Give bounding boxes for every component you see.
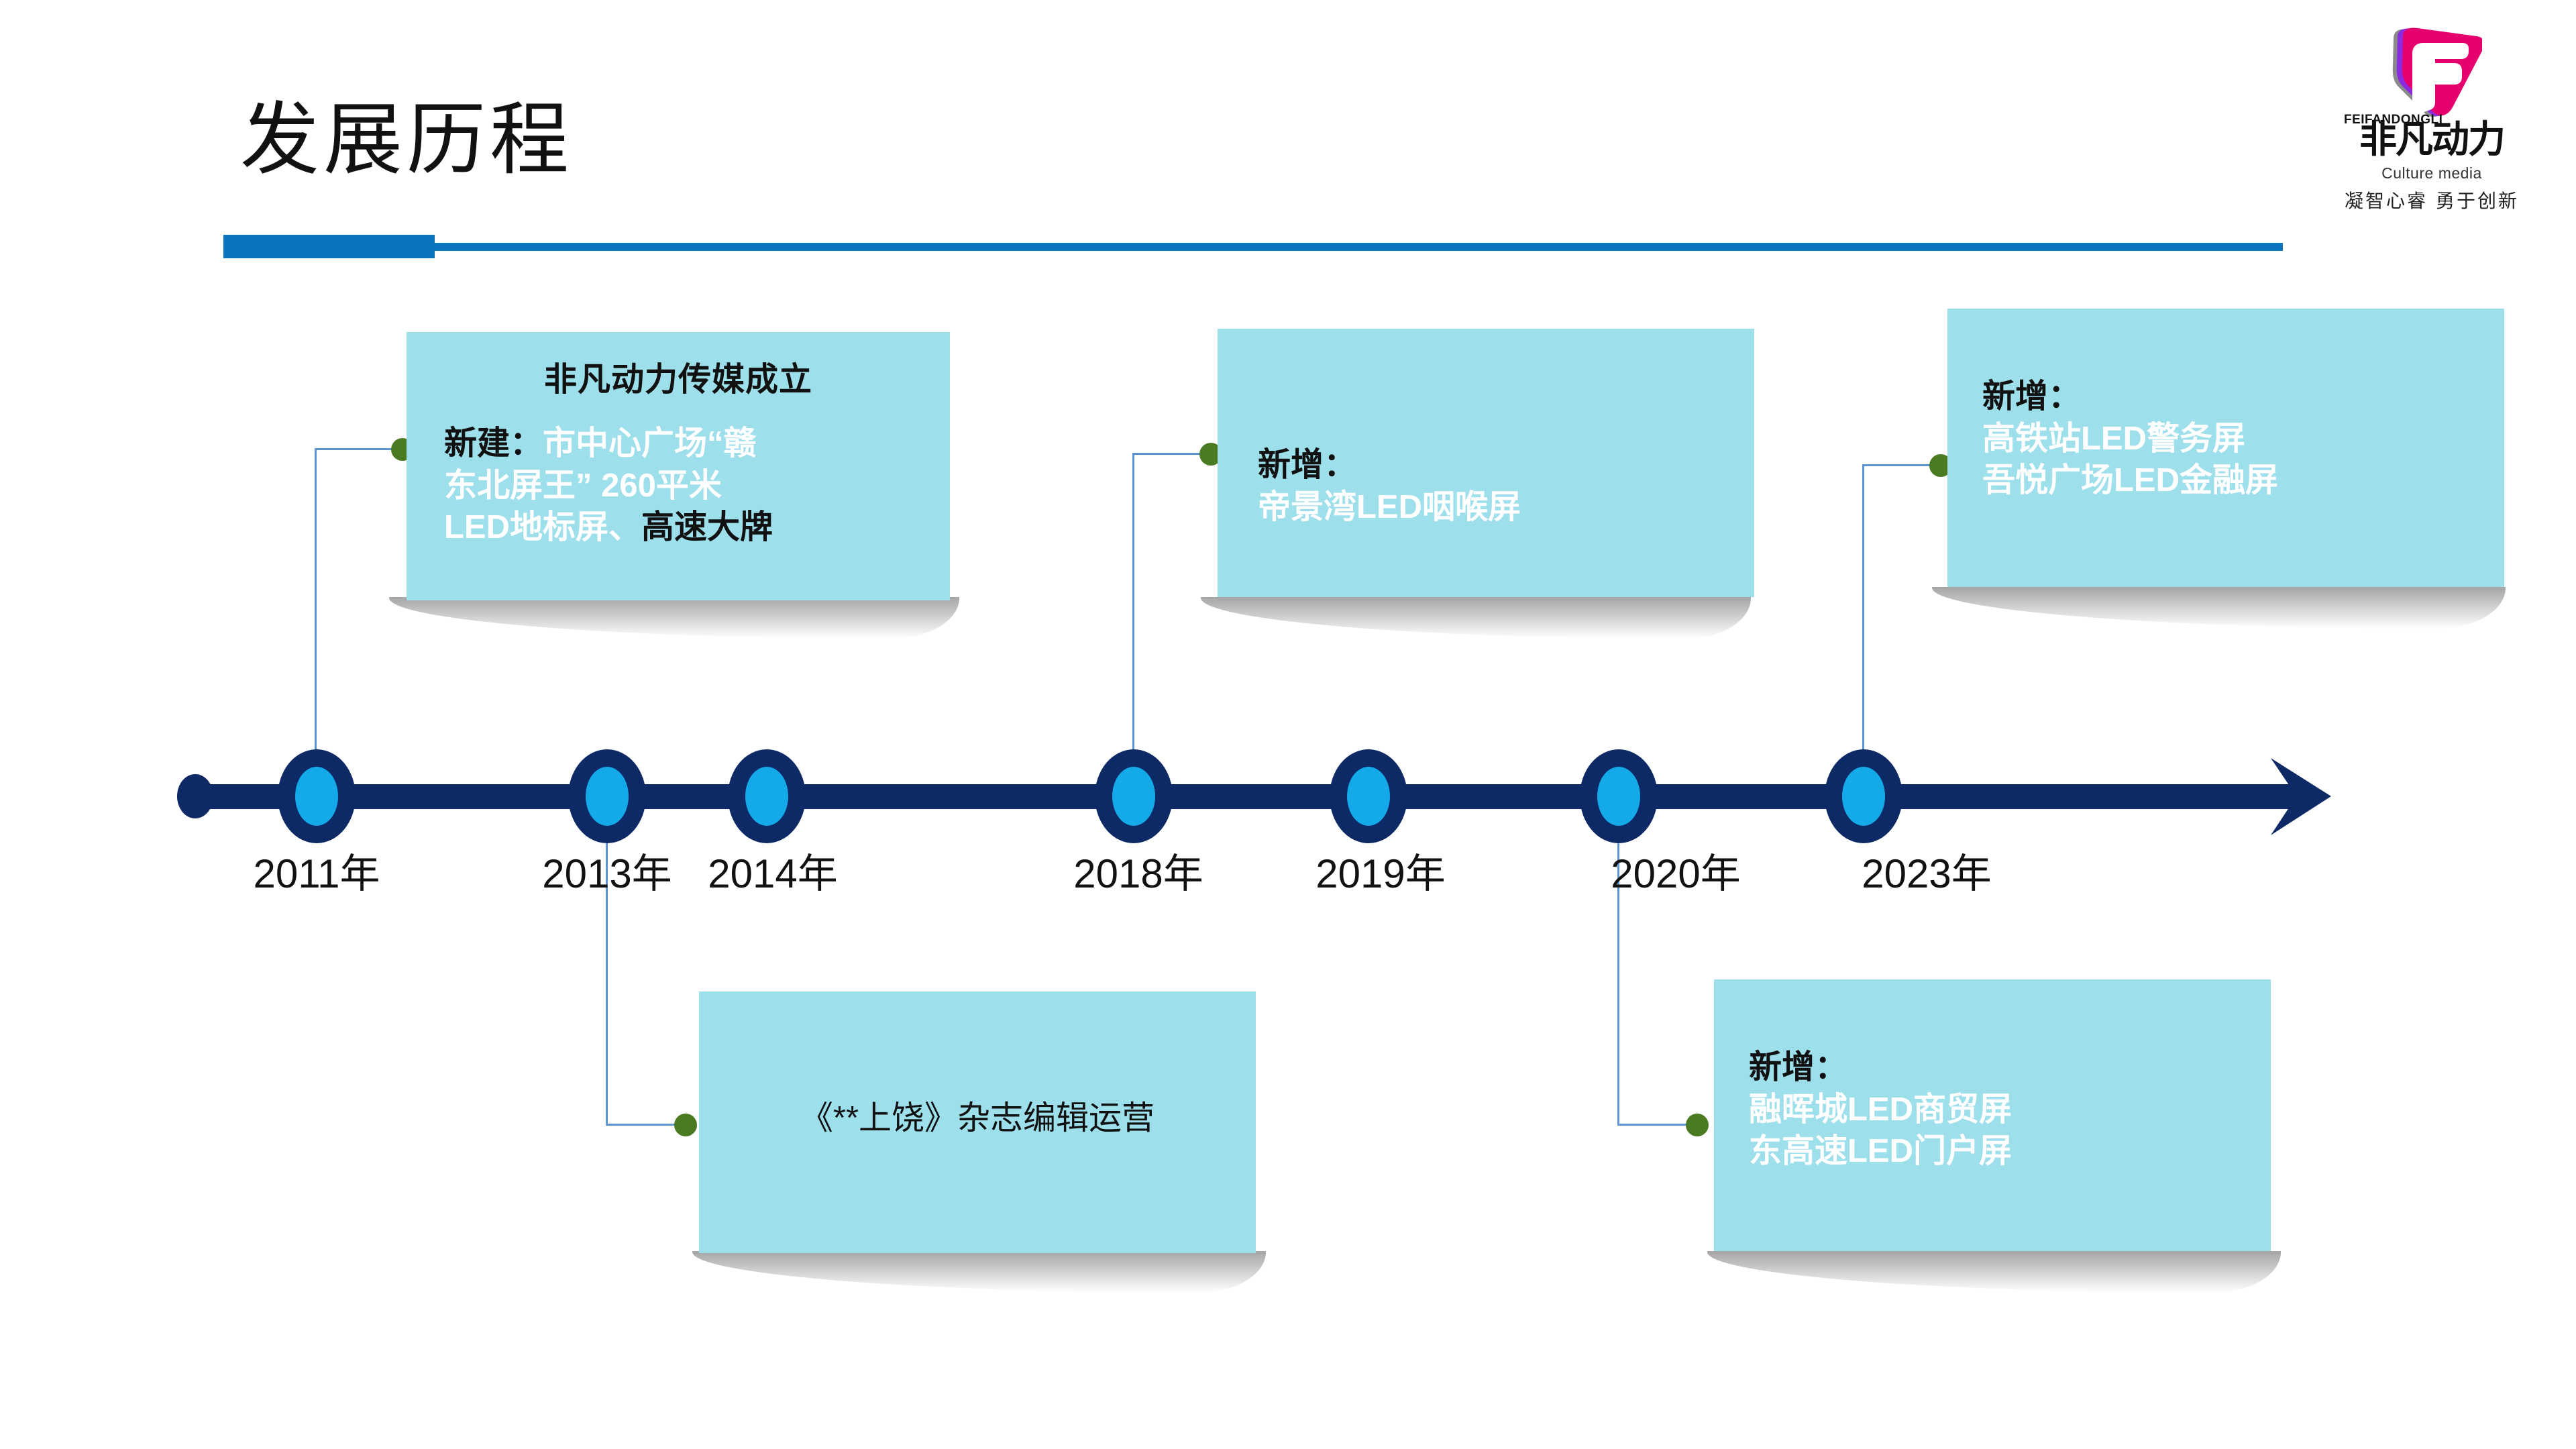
- card-shadow-2020: [1707, 1251, 2281, 1293]
- card-2020-l2-s1: 融晖城LED商贸屏: [1749, 1091, 2012, 1128]
- connector-2018-vertical: [1132, 453, 1134, 790]
- timeline-year-2014: 2014年: [708, 841, 837, 900]
- card-2020-l3-s1: 东高速LED门户屏: [1749, 1133, 2012, 1169]
- card-2011-title: 非凡动力传媒成立: [407, 360, 950, 400]
- timeline-node-2018[interactable]: [1095, 749, 1173, 843]
- card-shadow-2013: [692, 1251, 1266, 1293]
- card-2011-l3-s2: 高速大牌: [641, 509, 773, 545]
- card-2018-body: 新增： 帝景湾LED咽喉屏: [1218, 329, 1754, 528]
- brand-logo: FEIFANDONGLI 非凡动力 Culture media 凝智心睿 勇于创…: [2334, 27, 2529, 215]
- timeline-node-2014[interactable]: [728, 749, 806, 843]
- card-2023[interactable]: 新增： 高铁站LED警务屏 吾悦广场LED金融屏: [1947, 309, 2504, 587]
- card-2011-line-1: 新建：市中心广场“赣: [444, 423, 938, 465]
- card-shadow-2011: [389, 597, 959, 639]
- logo-name-cn: 非凡动力: [2334, 121, 2529, 158]
- card-2011-body: 新建：市中心广场“赣 东北屏王” 260平米 LED地标屏、高速大牌: [407, 423, 950, 549]
- card-2020[interactable]: 新增： 融晖城LED商贸屏 东高速LED门户屏: [1714, 979, 2271, 1251]
- card-2018-line-1: 新增：: [1258, 444, 1754, 486]
- card-2023-body: 新增： 高铁站LED警务屏 吾悦广场LED金融屏: [1947, 309, 2504, 502]
- card-2011-l1-s2: 市中心广场“赣: [543, 425, 757, 462]
- card-2023-l2-s1: 高铁站LED警务屏: [1982, 421, 2245, 457]
- card-shadow-2023: [1932, 587, 2506, 629]
- timeline-year-2020: 2020年: [1611, 841, 1740, 900]
- card-2011-line-2: 东北屏王” 260平米: [444, 465, 938, 507]
- card-2023-line-1: 新增：: [1982, 376, 2504, 418]
- timeline-node-2023[interactable]: [1825, 749, 1902, 843]
- timeline-year-2019: 2019年: [1316, 841, 1445, 900]
- card-2013-body: 《**上饶》杂志编辑运营: [699, 991, 1256, 1140]
- card-2023-l1-s1: 新增：: [1982, 378, 2081, 415]
- connector-dot-2013: [674, 1114, 697, 1136]
- timeline-year-2018: 2018年: [1073, 841, 1203, 900]
- title-underline-block: [223, 235, 435, 258]
- timeline-node-2011[interactable]: [278, 749, 356, 843]
- timeline-year-2023: 2023年: [1862, 841, 1991, 900]
- timeline-year-2013: 2013年: [542, 841, 672, 900]
- card-2011-l3-s1: LED地标屏、: [444, 509, 641, 545]
- card-2023-line-2: 高铁站LED警务屏: [1982, 418, 2504, 460]
- axis-start-dot: [177, 774, 213, 818]
- timeline-node-2013[interactable]: [568, 749, 646, 843]
- timeline-node-2019[interactable]: [1330, 749, 1407, 843]
- title-underline-rule: [435, 243, 2283, 251]
- timeline-year-2011: 2011年: [253, 841, 380, 900]
- card-2011-line-3: LED地标屏、高速大牌: [444, 506, 938, 549]
- card-2011-l1-s1: 新建：: [444, 425, 543, 462]
- page-title: 发展历程: [240, 101, 573, 180]
- connector-dot-2020: [1686, 1114, 1709, 1136]
- axis-line: [195, 784, 2308, 809]
- logo-tagline: 凝智心睿 勇于创新: [2334, 186, 2529, 213]
- card-2023-l3-s1: 吾悦广场LED金融屏: [1982, 462, 2278, 498]
- card-2018-line-2: 帝景湾LED咽喉屏: [1258, 486, 1754, 529]
- card-2013[interactable]: 《**上饶》杂志编辑运营: [699, 991, 1256, 1253]
- card-2018[interactable]: 新增： 帝景湾LED咽喉屏: [1218, 329, 1754, 597]
- card-2020-l1-s1: 新增：: [1749, 1049, 1847, 1085]
- timeline-node-2020[interactable]: [1580, 749, 1658, 843]
- card-2023-line-3: 吾悦广场LED金融屏: [1982, 460, 2504, 502]
- card-2020-body: 新增： 融晖城LED商贸屏 东高速LED门户屏: [1714, 979, 2271, 1173]
- card-2018-l2-s1: 帝景湾LED咽喉屏: [1258, 489, 1521, 525]
- card-2020-line-1: 新增：: [1749, 1046, 2271, 1089]
- card-2011-l2-s1: 东北屏王” 260平米: [444, 468, 722, 504]
- card-2011[interactable]: 非凡动力传媒成立 新建：市中心广场“赣 东北屏王” 260平米 LED地标屏、高…: [407, 332, 950, 600]
- card-2020-line-3: 东高速LED门户屏: [1749, 1130, 2271, 1173]
- logo-f-triangle-icon: [2375, 27, 2482, 121]
- connector-2023-vertical: [1862, 464, 1864, 790]
- card-shadow-2018: [1201, 597, 1751, 639]
- card-2020-line-2: 融晖城LED商贸屏: [1749, 1089, 2271, 1131]
- card-2013-line-1: 《**上饶》杂志编辑运营: [699, 1097, 1256, 1140]
- connector-2011-vertical: [315, 448, 317, 790]
- card-2018-l1-s1: 新增：: [1258, 447, 1356, 483]
- card-2013-l1-s1: 《**上饶》杂志编辑运营: [800, 1100, 1155, 1136]
- axis-arrow-icon: [2271, 758, 2331, 835]
- logo-subtitle: Culture media: [2334, 164, 2529, 182]
